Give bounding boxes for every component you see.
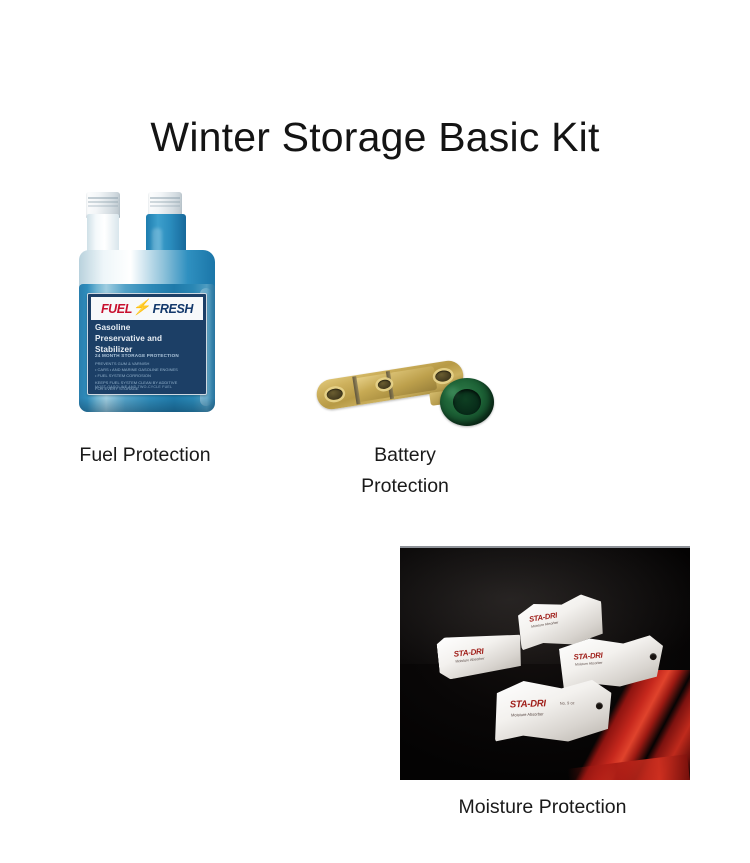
moisture-protection-image: STA-DRI Moisture Absorber STA-DRI Moistu… [400,546,690,780]
brand-banner: FUEL ⚡ FRESH [91,297,203,320]
caption-battery-protection: Battery Protection [310,440,500,502]
packet-weight-label: No. 9 oz [560,700,575,706]
fuel-protection-image: FUEL ⚡ FRESH Gasoline Preservative and S… [74,192,222,417]
packet-brand-label: STA-DRI [510,698,546,710]
caption-moisture-protection: Moisture Protection [395,792,690,823]
brand-name-fuel: FUEL [101,302,132,316]
label-subhead: 24 MONTH STORAGE PROTECTION [95,353,197,358]
packet-description: Moisture Absorber [575,661,603,668]
page-title: Winter Storage Basic Kit [0,115,750,160]
terminal-bolt-hole [326,388,344,401]
packet-eyelet-icon [649,653,656,660]
packet-description: Moisture Absorber [511,711,544,718]
label-footer: MOST GASOLINE AND TWO-CYCLE FUEL [95,385,197,389]
packet-eyelet-icon [596,702,603,709]
battery-protection-image [312,348,502,432]
bottle-label: FUEL ⚡ FRESH Gasoline Preservative and S… [87,293,207,395]
lightning-bolt-icon: ⚡ [131,300,153,315]
brand-name-fresh: FRESH [153,302,193,316]
label-heading: Gasoline Preservative and Stabilizer [95,323,199,355]
caption-fuel-protection: Fuel Protection [40,440,250,471]
terminal-bolt-hole [434,369,452,382]
anti-corrosion-washer [440,378,494,426]
